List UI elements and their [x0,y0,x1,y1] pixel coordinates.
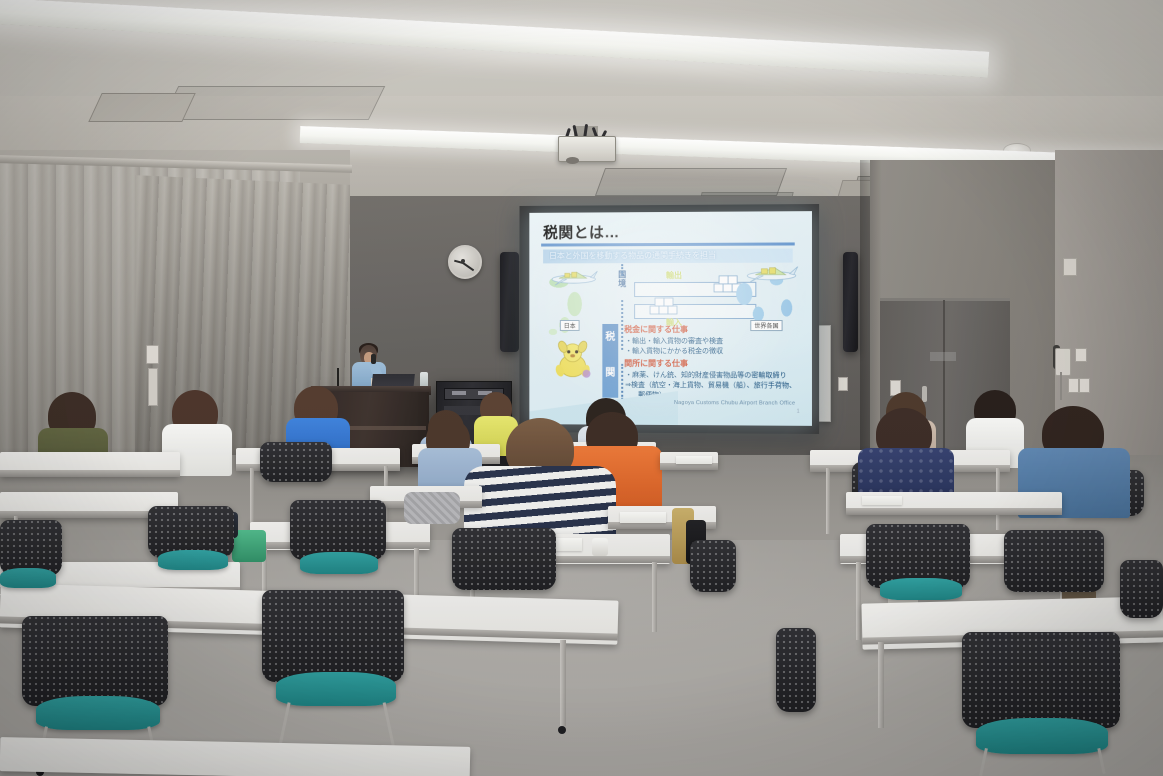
customs-banner-char-2: 関 [602,364,618,379]
slide-credit: Nagoya Customs Chubu Airport Branch Offi… [674,400,795,407]
slide-heading-2: 関所に関する仕事 [624,358,688,369]
phone-cord [1060,372,1062,400]
cargo-box-stack-icon [646,294,682,316]
wall-control-panel[interactable] [1079,378,1090,393]
chair-foreground [962,632,1120,728]
chair [260,442,332,482]
av-indicator [452,391,466,395]
wall-speaker-right [843,252,858,352]
slide-title-rule [541,242,795,246]
projector-lens-icon [566,157,579,164]
slide-title: 税関とは… [543,221,620,242]
customs-banner-char-1: 税 [602,328,618,343]
handout-paper [620,512,666,523]
slide-bullet-2: ・輸入貨物にかかる税金の徴収 [625,346,723,356]
projection-screen: 税関とは… 日本と外国を移動する物品の通関手続きを担当 日本 国境 [529,211,812,426]
cargo-plane-icon [547,268,600,288]
wall-switch-panel[interactable] [148,368,158,406]
ceiling-air-vent [88,93,196,122]
chair [1004,530,1104,592]
cup [592,538,608,556]
wall-outlet[interactable] [838,377,848,391]
attendee [858,408,954,504]
slide-subtitle-text: 日本と外国を移動する物品の通関手続きを担当 [549,249,791,264]
chair [690,540,736,592]
wall-control-panel[interactable] [1068,378,1079,393]
japan-label: 日本 [560,320,580,331]
door-sign [930,352,956,361]
slide-bullet-3: ・麻薬、けん銃、知的財産侵害物品等の密輸取締り [625,370,786,381]
slide-heading-1: 税金に関する仕事 [624,324,688,335]
slide-page-number: 1 [797,409,800,415]
handout-paper [862,496,902,505]
clock-center [461,259,465,263]
wall-speaker-left [500,252,519,352]
chair [452,528,556,590]
chair-foreground [776,628,816,712]
attendee-striped [464,418,616,536]
export-label: 輸出 [666,270,682,281]
chair [290,500,386,560]
world-label: 世界各国 [750,320,782,331]
wall-phone[interactable] [1055,348,1071,376]
seminar-room-photo: 税関とは… 日本と外国を移動する物品の通関手続きを担当 日本 国境 [0,0,1163,776]
wall-switch[interactable] [146,345,159,364]
cargo-plane-icon [742,264,801,286]
table [0,452,180,476]
wall-control-panel[interactable] [1075,348,1087,362]
wall-clock [448,245,482,279]
ceiling-recess-panel [162,86,386,120]
wall-plate [1063,258,1077,276]
customs-mascot-icon [551,340,594,380]
slide-bullet-1: ・輸出・輸入貨物の審査や検査 [625,336,723,346]
border-dash-line [621,264,624,276]
microphone-icon [371,354,376,364]
knit-bag [404,492,460,524]
chair [1120,560,1163,618]
chair-foreground [22,616,168,706]
handout-paper [676,456,712,464]
chair-foreground [262,590,404,682]
